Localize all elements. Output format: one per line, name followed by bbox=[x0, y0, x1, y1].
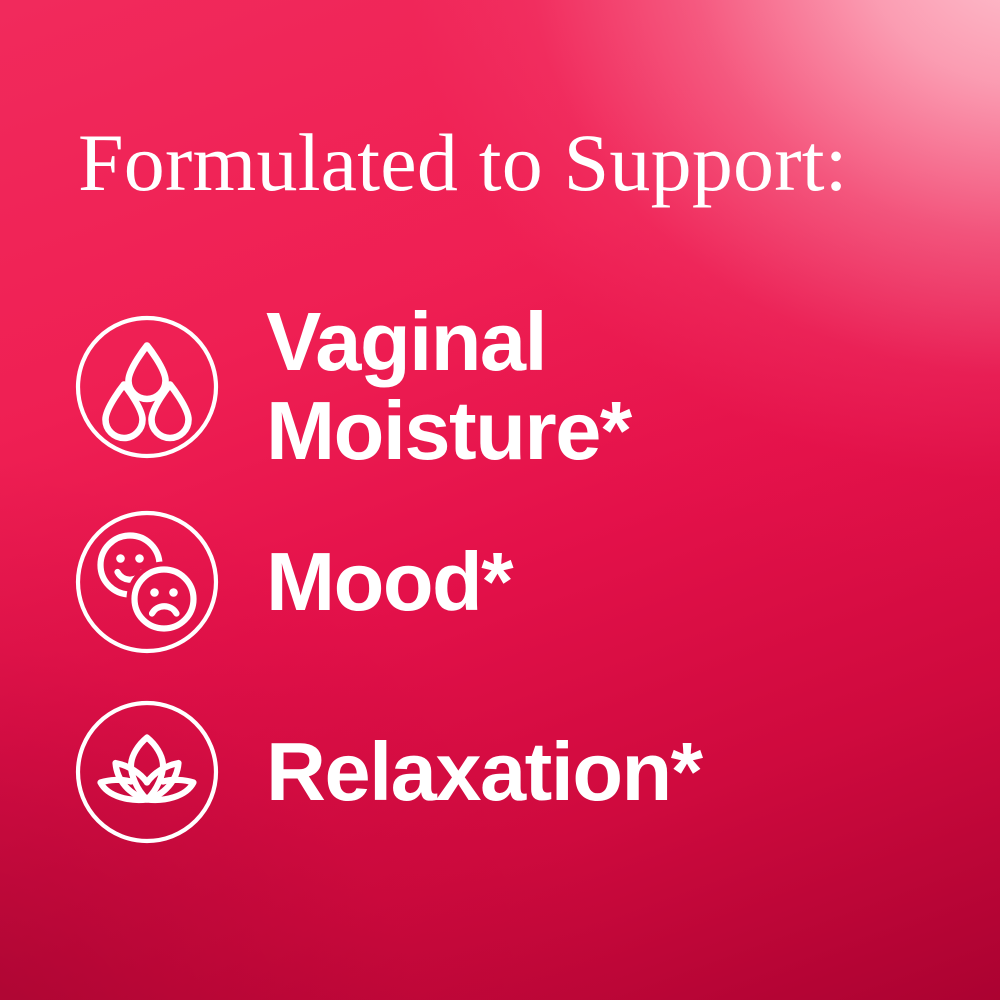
page-title: Formulated to Support: bbox=[78, 122, 848, 204]
benefit-label: Relaxation* bbox=[234, 728, 702, 816]
benefit-item-relaxation: Relaxation* bbox=[60, 685, 702, 859]
benefit-item-mood: Mood* bbox=[60, 495, 512, 669]
benefit-item-vaginal-moisture: Vaginal Moisture* bbox=[60, 298, 631, 476]
mood-faces-icon bbox=[60, 495, 234, 669]
benefit-label: Vaginal Moisture* bbox=[234, 298, 631, 476]
content-layer: Formulated to Support: Vaginal Moisture* bbox=[0, 0, 1000, 1000]
promo-graphic: Formulated to Support: Vaginal Moisture* bbox=[0, 0, 1000, 1000]
benefit-label: Mood* bbox=[234, 538, 512, 626]
lotus-flower-icon bbox=[60, 685, 234, 859]
water-droplets-icon bbox=[60, 300, 234, 474]
